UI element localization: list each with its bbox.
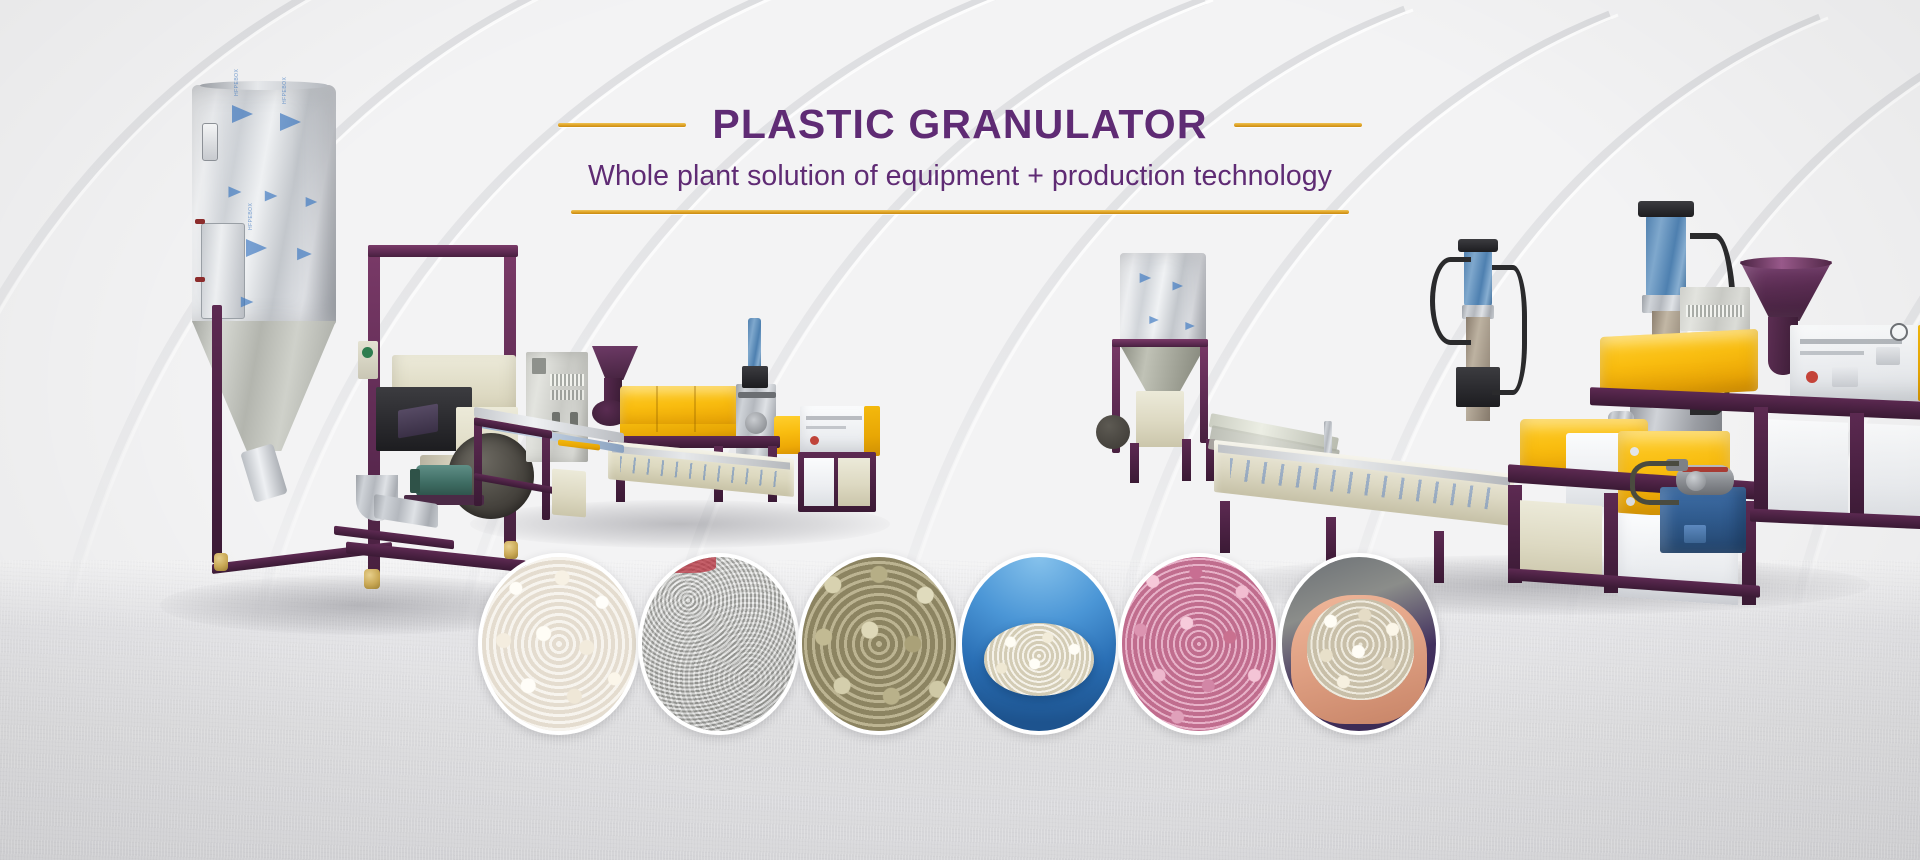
hopper-access-door [201,223,245,319]
caster-front-left [364,569,380,589]
hopper-discharge-spout [240,443,288,503]
second-stage-leg-2 [1850,413,1864,525]
panel-label-strip-1 [806,416,862,420]
power-indicator-lamp [362,347,373,358]
motor-nameplate-stripe [1682,467,1728,472]
film-logo-text: HFPEBOX [248,203,254,230]
film-logo-4 [1185,321,1200,331]
red-edge-artifact [654,557,716,573]
film-logo-triangle-icon [246,239,267,257]
trough-end-box [552,469,586,518]
product-circle-white-translucent-pellets[interactable] [478,553,640,735]
granules-in-hand [1307,599,1415,700]
hopper-frame-top-rail [1112,339,1208,347]
hydraulic-cylinder [748,318,761,370]
hopper-inspection-window [202,123,218,161]
conveyor-leg-1 [474,422,482,506]
pelletizer-end-cover [864,406,880,456]
motor-end-cap [410,469,420,493]
cabinet-display [532,358,546,374]
product-circle-hand-holding-granules[interactable] [1278,553,1440,735]
film-logo-2 [1173,281,1190,292]
film-logo-6: HFPEBOX [246,237,280,259]
power-pack-access-plate [1684,525,1706,543]
film-logo-2: HFPEBOX [280,111,314,133]
panel-readout [1832,367,1858,387]
film-logo-3 [1149,315,1164,325]
film-logo-1: HFPEBOX [232,103,266,125]
blue-backdrop [962,557,1116,731]
film-logo-triangle-icon [228,186,241,197]
feeder-housing [1136,391,1184,447]
hopper-frame-post-right [1200,339,1208,443]
second-stage-door-1 [1768,419,1848,522]
pelletizer-door-1 [804,458,834,506]
panel-stop-button [810,436,819,445]
banner-stage: PLASTIC GRANULATOR Whole plant solution … [0,0,1920,860]
hopper-hinge-top [195,219,205,224]
screen-changer-rail [738,392,776,398]
product-circle-pink-masterbatch-pellets[interactable] [1118,553,1280,735]
terminal-strip [1686,305,1744,317]
pellet-texture-pink [1122,557,1276,731]
housing-latch [1630,447,1639,456]
feed-hopper-cone [1120,345,1206,397]
stainless-hopper-barrel: HFPEBOX HFPEBOX HFPEBOX [192,85,336,325]
pellet-heap [984,623,1095,696]
film-logo-triangle-icon [1140,273,1152,283]
workshop-backdrop [1282,557,1436,731]
film-logo-text: HFPEBOX [282,77,288,104]
screen-changer-2-cylinder-cap [1638,201,1694,217]
second-stage-door-2 [1864,423,1920,528]
film-logo-triangle-icon [265,191,278,202]
panel-gauge [1876,347,1900,365]
funnel-rim [1740,257,1832,269]
panel-pressure-dial [1890,323,1908,341]
trough-leg-1 [1220,501,1230,553]
pellet-texture-olive [802,557,956,731]
hopper-handwheel [1096,415,1130,449]
film-logo-3 [228,185,249,199]
barrel-panel-seam-2 [694,386,696,432]
frame-post-left-rear [212,305,222,563]
second-stage-leg-1 [1754,407,1768,517]
hydraulic-hose-to-pack [1630,461,1679,505]
film-logo-5 [306,196,325,208]
hopper-hinge-bottom [195,277,205,282]
pellet-texture-grey [642,557,796,731]
panel-emergency-stop [1806,371,1818,383]
film-logo-8 [241,295,261,308]
cabinet-switch-row-1 [550,374,584,386]
film-logo-triangle-icon [1149,316,1158,324]
product-circle-grey-recycled-granules[interactable] [638,553,800,735]
film-logo-4 [265,189,285,202]
film-logo-triangle-icon [306,197,318,207]
motor-fan-cover [1686,471,1706,491]
screen-changer-1-cylinder-cap [1458,239,1498,252]
film-logo-triangle-icon [280,113,301,131]
hydraulic-hose-1 [1430,257,1471,345]
screen-changer-port [745,412,767,434]
hopper-rim [200,81,328,90]
extruder-feed-hopper [592,346,638,380]
film-logo-triangle-icon [241,297,254,308]
page-title: PLASTIC GRANULATOR [712,104,1207,145]
product-circle-cream-pellets-on-blue[interactable] [958,553,1120,735]
caster-rear-left [214,553,228,571]
film-logo-triangle-icon [232,105,253,123]
film-logo-7 [297,246,321,261]
film-logo-1 [1140,272,1159,284]
pelletizer-door-2 [838,458,870,506]
cabinet-switch-row-2 [550,390,584,400]
barrel-panel-seam-1 [656,386,658,432]
feeder-leg-1 [1130,443,1139,483]
second-stage-funnel-hopper [1738,261,1834,321]
electric-motor [416,465,472,497]
film-logo-text: HFPEBOX [234,69,240,96]
pelletizer-control-panel [800,406,872,456]
pellet-texture-white [482,557,636,731]
film-logo-triangle-icon [1173,282,1184,291]
feeder-leg-2 [1182,439,1191,481]
panel-label-strip-2 [806,426,846,429]
conveyor-leg-2 [542,436,550,520]
screen-changer-2-cylinder [1646,213,1686,299]
frame-top-rail [368,245,518,257]
panel-strip-1 [1800,339,1902,344]
feed-hopper-barrel [1120,253,1206,349]
hydraulic-hose-2 [1492,265,1527,395]
film-logo-triangle-icon [297,248,312,261]
title-rule-right [1234,123,1362,127]
subtitle-underline [571,210,1349,214]
cylinder-mount-block [742,366,768,388]
product-circle-olive-beige-pellets[interactable] [798,553,960,735]
panel-strip-2 [1800,351,1864,355]
film-logo-triangle-icon [1185,322,1194,330]
machine-single-screw-extruder-line [480,300,900,560]
